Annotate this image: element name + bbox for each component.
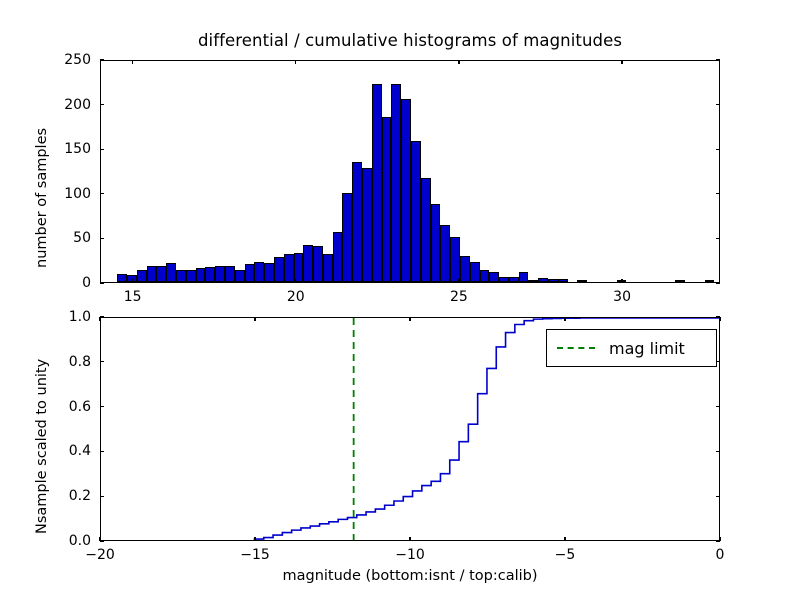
histogram-bar	[538, 278, 548, 282]
histogram-bar	[675, 280, 685, 282]
x-tick-label: 0	[690, 548, 750, 562]
histogram-bar	[489, 272, 499, 282]
histogram-bar	[450, 237, 460, 282]
legend-label-mag-limit: mag limit	[609, 339, 685, 358]
histogram-bar	[225, 266, 235, 282]
y-tick-mark-right	[716, 193, 720, 194]
y-tick-mark-right	[716, 540, 720, 541]
histogram-bar	[284, 254, 294, 282]
x-tick-mark-top	[458, 60, 459, 64]
histogram-bar	[333, 232, 343, 282]
histogram-bar	[470, 262, 480, 282]
y-tick-mark-right	[716, 406, 720, 407]
x-tick-mark-top	[409, 317, 410, 321]
x-tick-label: 15	[103, 290, 163, 304]
histogram-bar	[509, 277, 519, 282]
y-tick-mark-right	[716, 59, 720, 60]
chart-title: differential / cumulative histograms of …	[100, 31, 720, 50]
y-tick-mark-right	[716, 104, 720, 105]
x-tick-label: 30	[592, 290, 652, 304]
figure: differential / cumulative histograms of …	[0, 0, 800, 600]
histogram-bar	[401, 99, 411, 282]
histogram-bar	[431, 204, 441, 282]
y-tick-mark	[100, 59, 104, 60]
histogram-bar	[528, 280, 538, 282]
histogram-bar	[303, 245, 313, 282]
histogram-bar	[196, 268, 206, 282]
x-tick-label: −15	[225, 548, 285, 562]
histogram-bar	[176, 270, 186, 282]
y-tick-label: 0.6	[31, 400, 91, 414]
y-tick-label: 0.8	[31, 355, 91, 369]
histogram-bar	[391, 84, 401, 282]
y-tick-mark	[100, 361, 104, 362]
histogram-bar	[156, 266, 166, 282]
x-tick-mark-top	[295, 60, 296, 64]
y-tick-mark	[100, 496, 104, 497]
x-tick-mark-top	[254, 317, 255, 321]
y-tick-label: 50	[31, 231, 91, 245]
y-tick-mark	[100, 316, 104, 317]
y-tick-mark	[100, 451, 104, 452]
x-tick-mark-top	[132, 60, 133, 64]
y-tick-label: 100	[31, 187, 91, 201]
bottom-panel-x-axis-label: magnitude (bottom:isnt / top:calib)	[100, 568, 720, 584]
histogram-bar	[313, 246, 323, 282]
histogram-bar	[548, 279, 558, 282]
x-tick-label: 25	[429, 290, 489, 304]
histogram-bar	[499, 277, 509, 282]
y-tick-label: 1.0	[31, 310, 91, 324]
histogram-bar	[294, 253, 304, 282]
histogram-bar	[705, 280, 715, 282]
histogram-bar	[382, 117, 392, 282]
x-tick-mark	[295, 279, 296, 283]
x-tick-label: 20	[266, 290, 326, 304]
histogram-bar	[460, 256, 470, 282]
histogram-bar	[215, 266, 225, 282]
y-tick-mark-right	[716, 238, 720, 239]
y-tick-mark	[100, 193, 104, 194]
histogram-bar	[137, 270, 147, 282]
x-tick-mark-top	[564, 317, 565, 321]
histogram-bar	[147, 266, 157, 282]
x-tick-label: −10	[380, 548, 440, 562]
top-panel-axes	[100, 60, 720, 283]
x-tick-mark	[564, 537, 565, 541]
histogram-bar	[421, 178, 431, 282]
histogram-bar	[411, 141, 421, 282]
histogram-bar	[235, 270, 245, 282]
y-tick-mark-right	[716, 451, 720, 452]
y-tick-mark-right	[716, 316, 720, 317]
histogram-bar	[205, 267, 215, 282]
y-tick-mark	[100, 238, 104, 239]
histogram-bar	[264, 263, 274, 282]
y-tick-mark-right	[716, 496, 720, 497]
y-tick-mark-right	[716, 149, 720, 150]
x-tick-mark	[409, 537, 410, 541]
histogram-bar	[245, 264, 255, 282]
histogram-bar	[117, 274, 127, 282]
y-tick-label: 0.0	[31, 534, 91, 548]
histogram-bar	[362, 168, 372, 282]
top-panel-plot-area	[101, 61, 719, 282]
histogram-bar	[558, 279, 568, 282]
histogram-bar	[352, 162, 362, 282]
histogram-bar	[166, 263, 176, 282]
y-tick-mark	[100, 104, 104, 105]
x-tick-mark	[254, 537, 255, 541]
histogram-bar	[274, 257, 284, 282]
y-tick-label: 200	[31, 98, 91, 112]
y-tick-label: 150	[31, 142, 91, 156]
histogram-bar	[440, 225, 450, 282]
histogram-bar	[254, 262, 264, 282]
x-tick-mark-top	[621, 60, 622, 64]
histogram-bar	[186, 270, 196, 282]
histogram-bar	[342, 193, 352, 282]
histogram-bar	[323, 254, 333, 282]
y-tick-label: 0	[31, 276, 91, 290]
histogram-bar	[519, 272, 529, 282]
histogram-bar	[480, 270, 490, 282]
histogram-bar	[577, 280, 587, 282]
y-tick-label: 0.2	[31, 489, 91, 503]
mag-limit-legend-swatch-icon	[557, 347, 595, 349]
y-tick-label: 250	[31, 53, 91, 67]
y-tick-mark	[100, 149, 104, 150]
x-tick-label: −5	[535, 548, 595, 562]
histogram-bar	[372, 84, 382, 282]
x-tick-label: −20	[70, 548, 130, 562]
x-tick-mark	[621, 279, 622, 283]
bottom-panel-axes: mag limit	[100, 317, 720, 541]
y-tick-mark	[100, 406, 104, 407]
x-tick-mark	[132, 279, 133, 283]
x-tick-mark	[458, 279, 459, 283]
y-tick-mark	[100, 282, 104, 283]
y-tick-label: 0.4	[31, 444, 91, 458]
legend[interactable]: mag limit	[546, 329, 717, 367]
y-tick-mark-right	[716, 282, 720, 283]
y-tick-mark	[100, 540, 104, 541]
